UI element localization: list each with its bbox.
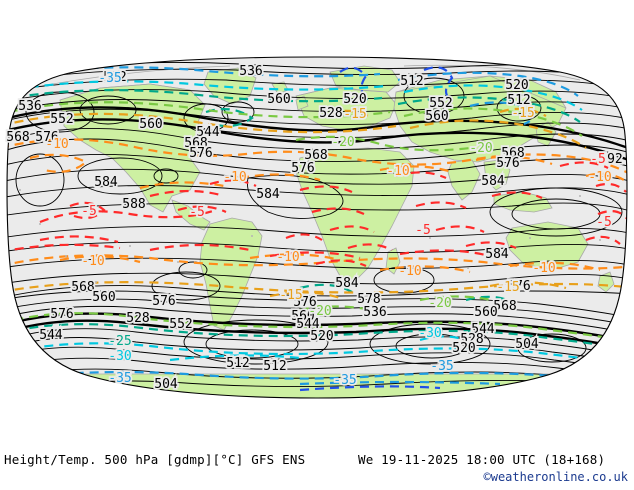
height-label: 512	[400, 74, 423, 89]
temp-label: -30	[108, 349, 131, 364]
height-label: 520	[310, 329, 333, 344]
height-label: 520	[343, 92, 366, 107]
height-label: 584	[94, 175, 118, 190]
contour-map-svg[interactable]: 5125125365365125125205205365365525525605…	[0, 0, 634, 430]
temp-label: -35	[108, 371, 131, 386]
height-label: 584	[481, 174, 505, 189]
height-label: 584	[335, 276, 359, 291]
temp-label: -20	[469, 141, 492, 156]
temp-label: -15	[511, 106, 534, 121]
temp-label: -35	[430, 359, 453, 374]
height-label: 560	[425, 109, 448, 124]
height-label: 504	[515, 337, 539, 352]
temp-label: -5	[590, 152, 606, 167]
height-label: 568	[6, 130, 29, 145]
height-label: 584	[256, 187, 280, 202]
footer-bar: Height/Temp. 500 hPa [gdmp][°C] GFS ENS …	[0, 430, 634, 490]
height-label: 552	[169, 317, 192, 332]
height-label: 520	[505, 78, 528, 93]
temp-label: -15	[279, 288, 302, 303]
footer-title: Height/Temp. 500 hPa [gdmp][°C] GFS ENS	[4, 452, 305, 467]
footer-datetime: We 19-11-2025 18:00 UTC (18+168)	[358, 452, 605, 467]
height-label: 512	[226, 356, 249, 371]
height-label: 560	[267, 92, 290, 107]
height-label: 568	[71, 280, 94, 295]
height-label: 576	[189, 146, 212, 161]
height-label: 536	[239, 64, 262, 79]
height-label: 576	[496, 156, 519, 171]
temp-label: -20	[308, 304, 331, 319]
height-label: 504	[154, 377, 178, 392]
temp-label: -15	[496, 280, 519, 295]
height-label: 560	[92, 290, 115, 305]
temp-label: -35	[333, 373, 356, 388]
height-label: 520	[452, 341, 475, 356]
temp-label: -10	[45, 137, 68, 152]
height-label: 576	[291, 161, 314, 176]
temp-label: -20	[428, 296, 451, 311]
height-label: 528	[319, 106, 342, 121]
temp-label: -35	[98, 71, 121, 86]
height-label: 576	[50, 307, 73, 322]
map-area[interactable]: 5125125365365125125205205365365525525605…	[0, 0, 634, 430]
height-label: 512	[263, 359, 286, 374]
height-label: 560	[474, 305, 497, 320]
height-label: 584	[485, 247, 509, 262]
temp-label: -25	[108, 334, 131, 349]
temp-label: -15	[343, 107, 366, 122]
height-label: 552	[50, 112, 73, 127]
temp-label: -30	[418, 326, 441, 341]
height-label: 536	[18, 99, 41, 114]
temp-label: -10	[398, 264, 421, 279]
temp-label: -5	[596, 215, 612, 230]
temp-label: -10	[532, 261, 555, 276]
temp-label: -10	[588, 170, 611, 185]
temp-label: -5	[189, 205, 205, 220]
height-label: 560	[139, 117, 162, 132]
height-label: 588	[122, 197, 145, 212]
weather-map-page: 5125125365365125125205205365365525525605…	[0, 0, 634, 490]
footer-copyright[interactable]: ©weatheronline.co.uk	[484, 470, 629, 484]
temp-label: -10	[81, 254, 104, 269]
height-label: 544	[39, 328, 63, 343]
temp-label: -10	[386, 164, 409, 179]
temp-label: -20	[331, 135, 354, 150]
temp-label: -10	[276, 250, 299, 265]
temp-label: -10	[223, 170, 246, 185]
height-label: 576	[152, 294, 175, 309]
temp-label: -5	[415, 223, 431, 238]
height-label: 528	[126, 311, 149, 326]
temp-label: -5	[81, 204, 97, 219]
height-label: 536	[363, 305, 386, 320]
